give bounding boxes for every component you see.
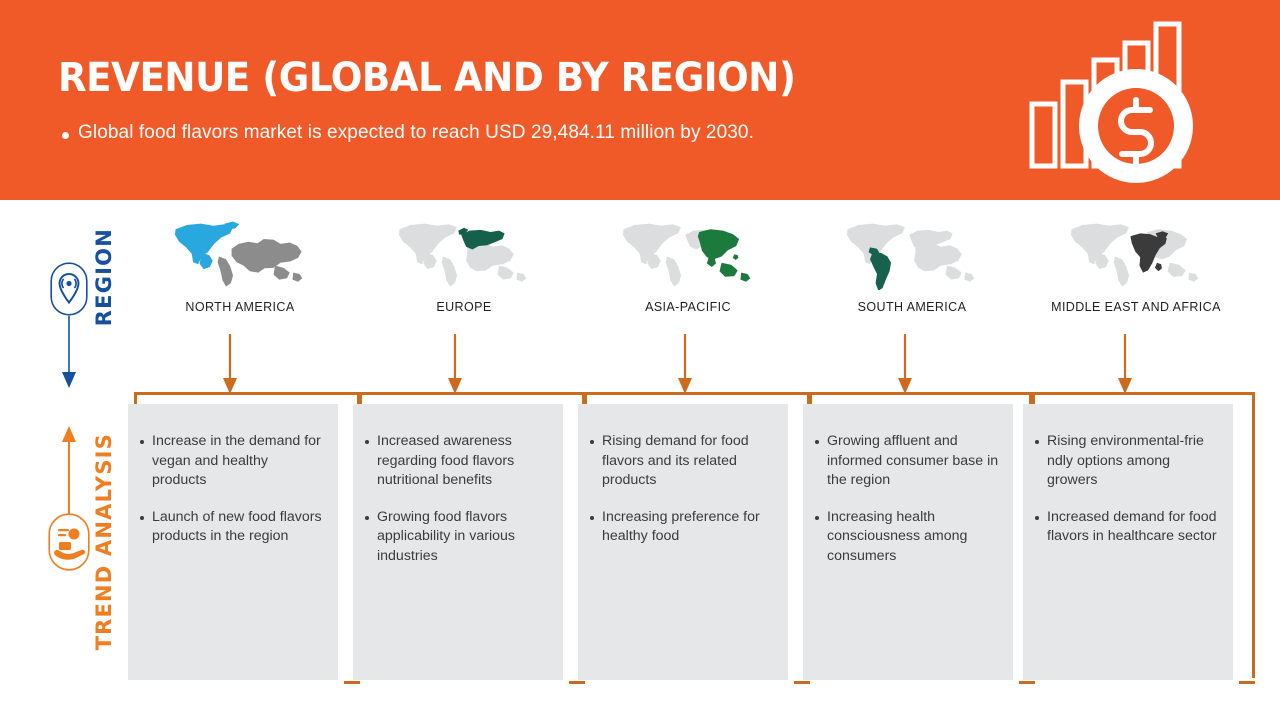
list-item: Rising demand for food flavors and its r…	[590, 432, 774, 491]
bullet-icon	[140, 440, 144, 444]
bullet-icon	[815, 516, 819, 520]
bracket-top	[1029, 392, 1255, 395]
region-label: ASIA-PACIFIC	[645, 300, 731, 314]
region-label: SOUTH AMERICA	[858, 300, 967, 314]
trend-point-text: Growing food flavors applicability in va…	[377, 508, 549, 567]
region-column-europe: EUROPE	[352, 216, 576, 326]
card-body: Rising demand for food flavors and its r…	[578, 404, 788, 680]
trend-card-asia-pacific: Rising demand for food flavors and its r…	[578, 392, 810, 684]
trend-point-text: Rising demand for food flavors and its r…	[602, 432, 774, 491]
bullet-icon	[590, 440, 594, 444]
dollar-coin-bar-chart-icon	[1026, 18, 1216, 190]
header-subtitle: Global food flavors market is expected t…	[78, 122, 754, 144]
trend-card-north-america: Increase in the demand for vegan and hea…	[128, 392, 360, 684]
trend-point-text: Launch of new food flavors products in t…	[152, 508, 324, 547]
trend-card-europe: Increased awareness regarding food flavo…	[353, 392, 585, 684]
world-map-europe-icon	[394, 216, 534, 290]
bullet-icon	[1035, 516, 1039, 520]
world-map-asia-pacific-icon	[618, 216, 758, 290]
connector-arrow-middle-east-africa-icon	[1116, 334, 1134, 396]
card-body: Rising environmental-frie ndly options a…	[1023, 404, 1233, 680]
region-flow-arrow-icon	[52, 316, 86, 390]
list-item: Increasing health consciousness among co…	[815, 508, 999, 567]
header-subtitle-row: Global food flavors market is expected t…	[62, 122, 754, 144]
connector-arrow-south-america-icon	[896, 334, 914, 396]
region-column-north-america: NORTH AMERICA	[128, 216, 352, 326]
bracket-top	[359, 392, 585, 395]
card-body: Growing affluent and informed consumer b…	[803, 404, 1013, 680]
list-item: Growing affluent and informed consumer b…	[815, 432, 999, 491]
region-rail-label: REGION	[92, 228, 116, 326]
connector-arrow-europe-icon	[446, 334, 464, 396]
trend-point-text: Increased awareness regarding food flavo…	[377, 432, 549, 491]
bullet-icon	[590, 516, 594, 520]
bullet-icon	[365, 440, 369, 444]
trend-point-list: Rising demand for food flavors and its r…	[590, 432, 774, 547]
region-column-south-america: SOUTH AMERICA	[800, 216, 1024, 326]
trend-point-list: Rising environmental-frie ndly options a…	[1035, 432, 1219, 547]
trend-card-middle-east-africa: Rising environmental-frie ndly options a…	[1023, 392, 1255, 684]
bracket-right	[1252, 392, 1255, 678]
bracket-top	[584, 392, 810, 395]
card-body: Increase in the demand for vegan and hea…	[128, 404, 338, 680]
bracket-bottom-stub	[1239, 681, 1255, 684]
world-map-south-america-icon	[842, 216, 982, 290]
bullet-icon	[815, 440, 819, 444]
bracket-top	[134, 392, 360, 395]
list-item: Increased awareness regarding food flavo…	[365, 432, 549, 491]
list-item: Increased demand for food flavors in hea…	[1035, 508, 1219, 547]
trend-point-list: Increase in the demand for vegan and hea…	[140, 432, 324, 547]
region-map-row: NORTH AMERICA EUROPE	[128, 216, 1248, 326]
region-label: MIDDLE EAST AND AFRICA	[1051, 300, 1221, 314]
trend-point-text: Increasing health consciousness among co…	[827, 508, 999, 567]
page-title: REVENUE (GLOBAL AND BY REGION)	[58, 55, 796, 101]
list-item: Growing food flavors applicability in va…	[365, 508, 549, 567]
trend-point-text: Growing affluent and informed consumer b…	[827, 432, 999, 491]
region-column-asia-pacific: ASIA-PACIFIC	[576, 216, 800, 326]
bullet-icon	[62, 132, 69, 139]
connector-arrow-asia-pacific-icon	[676, 334, 694, 396]
trend-card-south-america: Growing affluent and informed consumer b…	[803, 392, 1035, 684]
trend-point-text: Increased demand for food flavors in hea…	[1047, 508, 1219, 547]
header-banner: REVENUE (GLOBAL AND BY REGION) Global fo…	[0, 0, 1280, 200]
region-label: NORTH AMERICA	[185, 300, 294, 314]
trend-point-list: Increased awareness regarding food flavo…	[365, 432, 549, 566]
bullet-icon	[140, 516, 144, 520]
location-pin-icon	[50, 262, 88, 316]
trend-point-text: Increase in the demand for vegan and hea…	[152, 432, 324, 491]
bullet-icon	[1035, 440, 1039, 444]
region-label: EUROPE	[436, 300, 491, 314]
region-column-middle-east-africa: MIDDLE EAST AND AFRICA	[1024, 216, 1248, 326]
list-item: Launch of new food flavors products in t…	[140, 508, 324, 547]
bullet-icon	[365, 516, 369, 520]
list-item: Rising environmental-frie ndly options a…	[1035, 432, 1219, 491]
card-body: Increased awareness regarding food flavo…	[353, 404, 563, 680]
trend-point-text: Rising environmental-frie ndly options a…	[1047, 432, 1219, 491]
bracket-top	[809, 392, 1035, 395]
list-item: Increasing preference for healthy food	[590, 508, 774, 547]
trend-point-list: Growing affluent and informed consumer b…	[815, 432, 999, 566]
world-map-north-america-icon	[170, 216, 310, 290]
trend-point-text: Increasing preference for healthy food	[602, 508, 774, 547]
connector-arrow-north-america-icon	[221, 334, 239, 396]
world-map-middle-east-africa-icon	[1066, 216, 1206, 290]
trend-cards-row: Increase in the demand for vegan and hea…	[0, 392, 1280, 692]
list-item: Increase in the demand for vegan and hea…	[140, 432, 324, 491]
